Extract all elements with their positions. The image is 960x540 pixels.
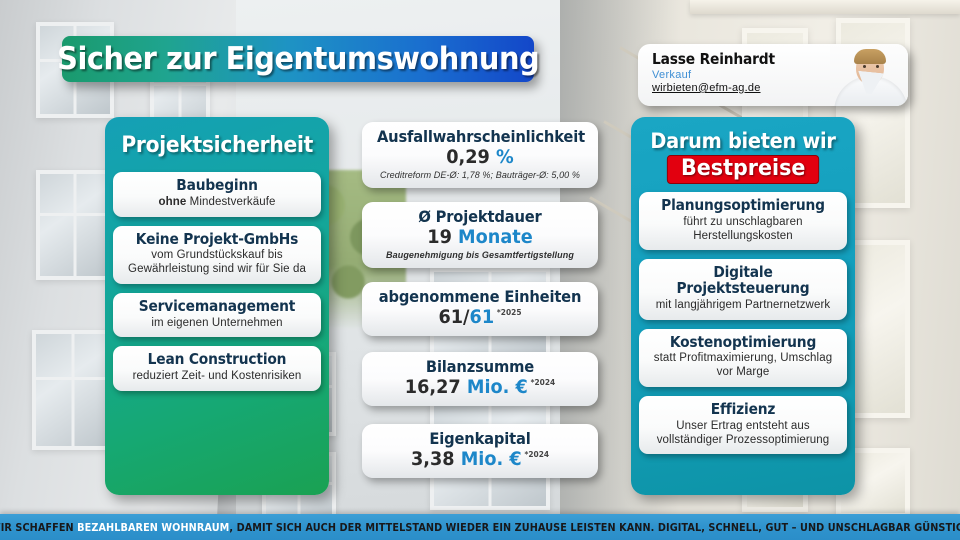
slide-root: Sicher zur Eigentumswohnung Lasse Reinha… (0, 0, 960, 540)
stat-value-main: 16,27 (405, 376, 461, 398)
stat-value-main: 19 (427, 226, 452, 248)
stat-value: 19 Monate (376, 227, 584, 248)
card-planungsoptimierung[interactable]: Planungsoptimierung führt zu unschlagbar… (639, 192, 847, 250)
stat-value-unit: Mio. € (461, 448, 522, 470)
window-left-2 (36, 170, 114, 280)
card-subtitle-rest: Mindestverkäufe (186, 196, 275, 208)
stat-value-main: 0,29 (446, 146, 490, 168)
card-kostenoptimierung[interactable]: Kostenoptimierung statt Profitmaximierun… (639, 329, 847, 387)
card-subtitle: reduziert Zeit- und Kostenrisiken (121, 370, 313, 384)
contact-name: Lasse Reinhardt (652, 50, 816, 68)
contact-card[interactable]: Lasse Reinhardt Verkauf wirbieten@efm-ag… (638, 44, 908, 106)
stat-value: 3,38 Mio. €*2024 (376, 449, 584, 470)
contact-info: Lasse Reinhardt Verkauf wirbieten@efm-ag… (638, 44, 830, 106)
card-baubeginn[interactable]: Baubeginn ohne Mindestverkäufe (113, 172, 321, 217)
card-title: Effizienz (655, 402, 832, 418)
panel-projektsicherheit: Projektsicherheit Baubeginn ohne Mindest… (105, 117, 329, 495)
card-title: Servicemanagement (129, 299, 306, 315)
avatar (830, 44, 908, 106)
card-subtitle: statt Profitmaximierung, Umschlag vor Ma… (647, 352, 839, 380)
card-subtitle: vom Grundstückskauf bis Gewährleistung s… (121, 249, 313, 277)
card-keine-projekt-gmbhs[interactable]: Keine Projekt-GmbHs vom Grundstückskauf … (113, 226, 321, 284)
page-title: Sicher zur Eigentumswohnung (57, 41, 539, 77)
avatar-eye-left (863, 65, 866, 68)
badge-wrapper: Bestpreise (639, 155, 847, 192)
stat-value: 0,29 % (376, 147, 584, 168)
stat-value: 61/61*2025 (376, 307, 584, 328)
stat-bilanzsumme[interactable]: Bilanzsumme 16,27 Mio. €*2024 (362, 352, 598, 406)
footer-part-1: „WIR SCHAFFEN (0, 521, 78, 534)
stat-value-unit: Monate (458, 226, 533, 248)
card-subtitle: ohne Mindestverkäufe (121, 196, 313, 210)
card-servicemanagement[interactable]: Servicemanagement im eigenen Unternehmen (113, 293, 321, 338)
window-left-3 (32, 330, 114, 450)
card-title: Kostenoptimierung (655, 335, 832, 351)
stat-label: Eigenkapital (377, 431, 583, 448)
card-title: Keine Projekt-GmbHs (129, 232, 306, 248)
card-title: Lean Construction (129, 352, 306, 368)
stat-value-unit: Mio. € (467, 376, 528, 398)
card-subtitle: mit langjährigem Partnernetzwerk (647, 299, 839, 313)
card-subtitle-strong: ohne (158, 196, 186, 208)
stat-value: 16,27 Mio. €*2024 (376, 377, 584, 398)
contact-email-link[interactable]: wirbieten@efm-ag.de (652, 82, 830, 94)
stat-ausfallwahrscheinlichkeit[interactable]: Ausfallwahrscheinlichkeit 0,29 % Creditr… (362, 122, 598, 188)
stat-label: Ø Projektdauer (377, 209, 583, 226)
card-subtitle: Unser Ertrag entsteht aus vollständiger … (647, 420, 839, 448)
card-subtitle: im eigenen Unternehmen (121, 317, 313, 331)
avatar-hair (854, 49, 886, 64)
stat-superscript: *2024 (524, 450, 549, 459)
stat-superscript: *2025 (497, 308, 522, 317)
panel-right-title: Darum bieten wir (647, 117, 838, 155)
stat-label: Bilanzsumme (377, 359, 583, 376)
footer-highlight: BEZAHLBAREN WOHNRAUM (78, 521, 230, 534)
stat-abgenommene-einheiten[interactable]: abgenommene Einheiten 61/61*2025 (362, 282, 598, 336)
stat-value-main: 61/ (438, 306, 469, 328)
stat-value-main: 3,38 (411, 448, 455, 470)
avatar-eye-right (876, 65, 879, 68)
footer-part-2: , DAMIT SICH AUCH DER MITTELSTAND WIEDER… (230, 521, 960, 534)
card-effizienz[interactable]: Effizienz Unser Ertrag entsteht aus voll… (639, 396, 847, 454)
stat-label: Ausfallwahrscheinlichkeit (377, 129, 583, 146)
card-digitale-projektsteuerung[interactable]: Digitale Projektsteuerung mit langjährig… (639, 259, 847, 319)
card-title: Planungsoptimierung (655, 198, 832, 214)
stat-eigenkapital[interactable]: Eigenkapital 3,38 Mio. €*2024 (362, 424, 598, 478)
stat-value-unit: % (496, 146, 514, 168)
status-badge: Bestpreise (667, 155, 820, 184)
stat-superscript: *2024 (531, 378, 556, 387)
panel-left-title: Projektsicherheit (121, 117, 312, 172)
stat-note: Baugenehmigung bis Gesamtfertigstellung (368, 250, 592, 260)
footer-banner: „WIR SCHAFFEN BEZAHLBAREN WOHNRAUM, DAMI… (0, 514, 960, 540)
stat-note: Creditreform DE-Ø: 1,78 %; Bauträger-Ø: … (368, 170, 592, 180)
panel-bestpreise: Darum bieten wir Bestpreise Planungsopti… (631, 117, 855, 495)
cornice-1 (690, 0, 960, 14)
stat-value-unit: 61 (470, 306, 495, 328)
stat-projektdauer[interactable]: Ø Projektdauer 19 Monate Baugenehmigung … (362, 202, 598, 268)
card-title: Digitale Projektsteuerung (655, 265, 832, 297)
title-banner: Sicher zur Eigentumswohnung (62, 36, 534, 82)
card-subtitle: führt zu unschlagbaren Herstellungskoste… (647, 216, 839, 244)
stat-label: abgenommene Einheiten (377, 289, 583, 306)
card-lean-construction[interactable]: Lean Construction reduziert Zeit- und Ko… (113, 346, 321, 391)
contact-role: Verkauf (652, 69, 830, 81)
card-title: Baubeginn (129, 178, 306, 194)
footer-quote: „WIR SCHAFFEN BEZAHLBAREN WOHNRAUM, DAMI… (0, 521, 960, 534)
